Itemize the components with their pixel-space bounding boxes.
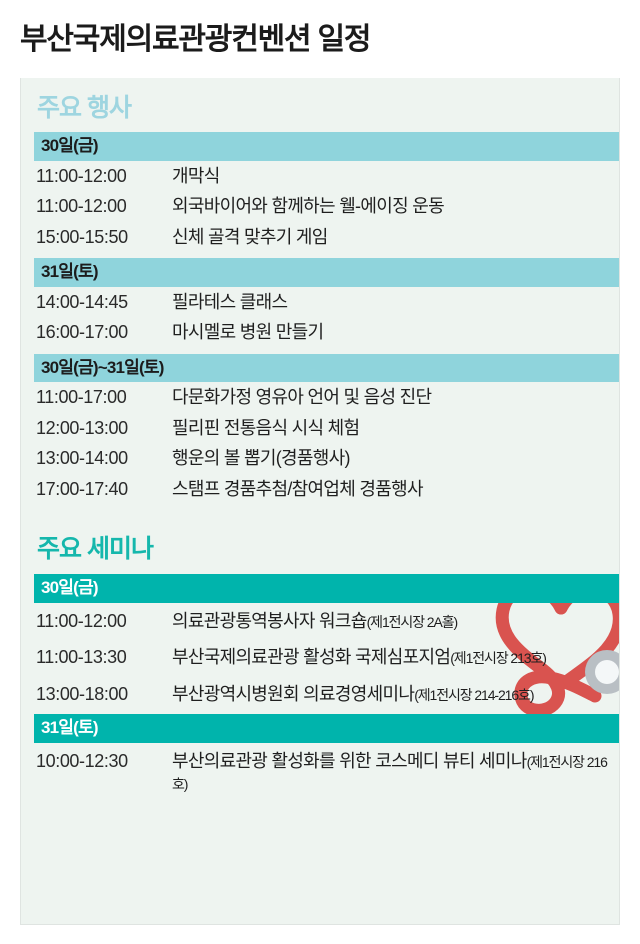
schedule-row[interactable]: 11:00-13:30 부산국제의료관광 활성화 국제심포지엄(제1전시장 21… (21, 639, 619, 676)
row-title: 스탬프 경품추첨/참여업체 경품행사 (172, 478, 609, 501)
row-time: 11:00-12:00 (36, 195, 172, 218)
date-group: 31일(토) 10:00-12:30 부산의료관광 활성화를 위한 코스메디 뷰… (21, 714, 619, 802)
row-time: 11:00-12:00 (36, 165, 172, 188)
row-time: 13:00-18:00 (36, 683, 172, 706)
schedule-row[interactable]: 13:00-14:00 행운의 볼 뽑기(경품행사) (21, 443, 619, 474)
row-time: 11:00-12:00 (36, 610, 172, 633)
section-seminars: 주요 세미나 30일(금) 11:00-12:00 의료관광통역봉사자 워크숍(… (21, 504, 619, 802)
events-group-list: 30일(금) 11:00-12:00 개막식 11:00-12:00 외국바이어… (21, 132, 619, 504)
row-title-text: 부산국제의료관광 활성화 국제심포지엄 (172, 647, 450, 667)
row-time: 15:00-15:50 (36, 226, 172, 249)
schedule-row[interactable]: 16:00-17:00 마시멜로 병원 만들기 (21, 317, 619, 348)
row-time: 11:00-17:00 (36, 386, 172, 409)
row-title: 다문화가정 영유아 언어 및 음성 진단 (172, 386, 609, 409)
row-title: 마시멜로 병원 만들기 (172, 321, 609, 344)
row-title-text: 부산광역시병원회 의료경영세미나 (172, 684, 414, 704)
date-header: 30일(금) (34, 132, 620, 161)
row-title: 부산의료관광 활성화를 위한 코스메디 뷰티 세미나(제1전시장 216호) (172, 750, 609, 795)
row-title: 신체 골격 맞추기 게임 (172, 226, 609, 249)
schedule-row[interactable]: 11:00-17:00 다문화가정 영유아 언어 및 음성 진단 (21, 382, 619, 413)
date-header: 31일(토) (34, 258, 620, 287)
row-title: 필리핀 전통음식 시식 체험 (172, 417, 609, 440)
row-title-text: 의료관광통역봉사자 워크숍 (172, 611, 367, 631)
date-header: 30일(금) (34, 574, 620, 603)
row-venue: (제1전시장 2A홀) (367, 614, 457, 630)
row-time: 12:00-13:00 (36, 417, 172, 440)
schedule-row[interactable]: 13:00-18:00 부산광역시병원회 의료경영세미나(제1전시장 214-2… (21, 676, 619, 713)
row-time: 17:00-17:40 (36, 478, 172, 501)
row-title: 외국바이어와 함께하는 웰-에이징 운동 (172, 195, 609, 218)
date-group: 30일(금) 11:00-12:00 개막식 11:00-12:00 외국바이어… (21, 132, 619, 252)
row-venue: (제1전시장 214-216호) (414, 687, 533, 703)
date-header: 31일(토) (34, 714, 620, 743)
row-time: 16:00-17:00 (36, 321, 172, 344)
date-header: 30일(금)~31일(토) (34, 354, 620, 383)
schedule-row[interactable]: 12:00-13:00 필리핀 전통음식 시식 체험 (21, 413, 619, 444)
seminars-group-list: 30일(금) 11:00-12:00 의료관광통역봉사자 워크숍(제1전시장 2… (21, 574, 619, 802)
schedule-row[interactable]: 11:00-12:00 개막식 (21, 161, 619, 192)
section-events: 주요 행사 30일(금) 11:00-12:00 개막식 11:00-12:00… (21, 78, 619, 504)
row-time: 10:00-12:30 (36, 750, 172, 773)
schedule-row[interactable]: 10:00-12:30 부산의료관광 활성화를 위한 코스메디 뷰티 세미나(제… (21, 743, 619, 802)
row-title: 부산광역시병원회 의료경영세미나(제1전시장 214-216호) (172, 683, 609, 706)
row-time: 11:00-13:30 (36, 646, 172, 669)
date-group: 30일(금)~31일(토) 11:00-17:00 다문화가정 영유아 언어 및… (21, 354, 619, 505)
row-time: 13:00-14:00 (36, 447, 172, 470)
row-title: 부산국제의료관광 활성화 국제심포지엄(제1전시장 213호) (172, 646, 609, 669)
schedule-panel: 주요 행사 30일(금) 11:00-12:00 개막식 11:00-12:00… (20, 78, 620, 925)
row-title: 개막식 (172, 165, 609, 188)
row-title-text: 부산의료관광 활성화를 위한 코스메디 뷰티 세미나 (172, 751, 527, 771)
schedule-row[interactable]: 14:00-14:45 필라테스 클래스 (21, 287, 619, 318)
page-title: 부산국제의료관광컨벤션 일정 (20, 22, 370, 58)
row-title: 행운의 볼 뽑기(경품행사) (172, 447, 609, 470)
schedule-row[interactable]: 11:00-12:00 외국바이어와 함께하는 웰-에이징 운동 (21, 191, 619, 222)
date-group: 31일(토) 14:00-14:45 필라테스 클래스 16:00-17:00 … (21, 258, 619, 348)
schedule-row[interactable]: 15:00-15:50 신체 골격 맞추기 게임 (21, 222, 619, 253)
section-title-events: 주요 행사 (21, 96, 619, 121)
row-title: 의료관광통역봉사자 워크숍(제1전시장 2A홀) (172, 610, 609, 633)
schedule-row[interactable]: 17:00-17:40 스탬프 경품추첨/참여업체 경품행사 (21, 474, 619, 505)
row-time: 14:00-14:45 (36, 291, 172, 314)
section-title-seminars: 주요 세미나 (21, 537, 619, 562)
row-venue: (제1전시장 213호) (450, 650, 546, 666)
row-title: 필라테스 클래스 (172, 291, 609, 314)
schedule-row[interactable]: 11:00-12:00 의료관광통역봉사자 워크숍(제1전시장 2A홀) (21, 603, 619, 640)
date-group: 30일(금) 11:00-12:00 의료관광통역봉사자 워크숍(제1전시장 2… (21, 574, 619, 712)
